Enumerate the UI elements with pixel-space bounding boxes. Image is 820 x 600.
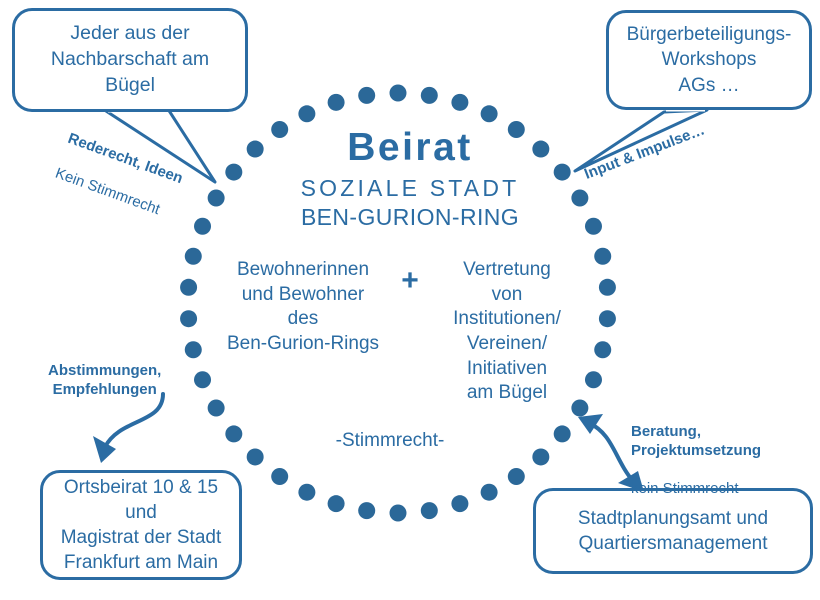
label-beratung: Beratung, Projektumsetzung kein Stimmrec… — [631, 404, 761, 517]
box-ortsbeirat: Ortsbeirat 10 & 15 und Magistrat der Sta… — [40, 470, 242, 580]
label-abstimmungen: Abstimmungen, Empfehlungen — [48, 362, 161, 400]
label-beratung-bold: Beratung, Projektumsetzung — [631, 423, 761, 461]
box-ortsbeirat-text: Ortsbeirat 10 & 15 und Magistrat der Sta… — [61, 475, 222, 575]
bubble-workshops-text: Bürgerbeteiligungs- Workshops AGs … — [627, 22, 792, 97]
members-institutions: Vertretung von Institutionen/ Vereinen/ … — [432, 258, 582, 406]
plus-icon: + — [388, 258, 432, 296]
diagram-canvas: Beirat SOZIALE STADT BEN-GURION-RING Bew… — [0, 0, 820, 600]
bubble-neighbourhood: Jeder aus der Nachbarschaft am Bügel — [12, 8, 248, 112]
membership-composition: Bewohnerinnen und Bewohner des Ben-Gurio… — [205, 258, 595, 406]
label-beratung-regular: kein Stimmrecht — [631, 480, 761, 499]
members-residents: Bewohnerinnen und Bewohner des Ben-Gurio… — [218, 258, 388, 357]
bubble-workshops: Bürgerbeteiligungs- Workshops AGs … — [606, 10, 812, 110]
bubble-neighbourhood-text: Jeder aus der Nachbarschaft am Bügel — [51, 21, 209, 98]
